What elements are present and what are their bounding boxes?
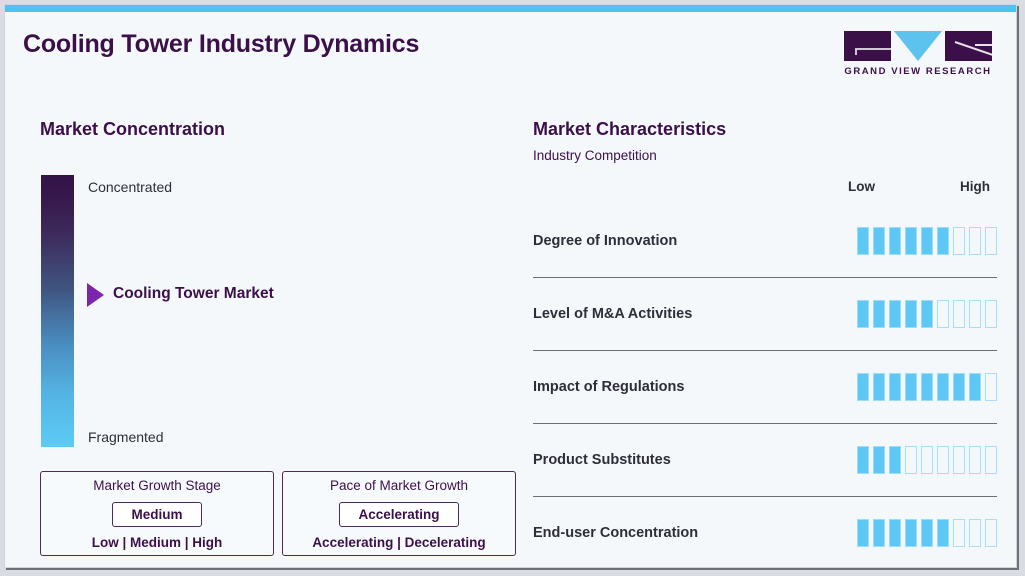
meter-tick-filled: [889, 300, 901, 328]
meter-tick-empty: [985, 373, 997, 401]
meter-tick-empty: [953, 227, 965, 255]
meter-tick-filled: [921, 300, 933, 328]
pace-value: Accelerating: [339, 502, 458, 527]
market-characteristics-subtitle: Industry Competition: [533, 148, 657, 163]
characteristic-meter: [857, 446, 997, 474]
meter-tick-empty: [921, 446, 933, 474]
meter-tick-filled: [873, 300, 885, 328]
pace-of-market-growth-box: Pace of Market Growth Accelerating Accel…: [282, 471, 516, 556]
meter-axis-high-label: High: [960, 179, 990, 194]
brand-logo: GRAND VIEW RESEARCH: [844, 31, 992, 77]
meter-tick-filled: [857, 373, 869, 401]
meter-tick-empty: [953, 519, 965, 547]
meter-tick-filled: [889, 373, 901, 401]
growth-stage-title: Market Growth Stage: [93, 478, 221, 493]
characteristic-meter: [857, 300, 997, 328]
meter-axis-low-label: Low: [848, 179, 875, 194]
meter-tick-filled: [873, 519, 885, 547]
meter-tick-filled: [937, 519, 949, 547]
meter-tick-filled: [857, 446, 869, 474]
meter-tick-filled: [905, 300, 917, 328]
logo-marks: [844, 31, 992, 61]
meter-tick-empty: [937, 446, 949, 474]
accent-top-bar: [5, 5, 1016, 12]
pace-title: Pace of Market Growth: [330, 478, 468, 493]
scale-top-label: Concentrated: [88, 179, 172, 195]
concentration-marker-label: Cooling Tower Market: [113, 285, 274, 303]
characteristics-rows: Degree of InnovationLevel of M&A Activit…: [533, 205, 997, 568]
concentration-gradient-scale: [41, 175, 74, 447]
meter-tick-filled: [921, 227, 933, 255]
market-concentration-title: Market Concentration: [40, 119, 225, 140]
meter-tick-filled: [873, 227, 885, 255]
growth-stage-value: Medium: [112, 502, 201, 527]
characteristic-label: Product Substitutes: [533, 452, 671, 468]
logo-right-rect-icon: [945, 31, 992, 61]
characteristic-row: Product Substitutes: [533, 424, 997, 497]
logo-wordmark: GRAND VIEW RESEARCH: [844, 66, 992, 77]
characteristic-meter: [857, 373, 997, 401]
meter-tick-empty: [985, 300, 997, 328]
characteristic-label: End-user Concentration: [533, 525, 698, 541]
meter-tick-empty: [905, 446, 917, 474]
meter-tick-empty: [985, 519, 997, 547]
meter-tick-filled: [857, 300, 869, 328]
meter-tick-filled: [873, 373, 885, 401]
characteristic-row: Degree of Innovation: [533, 205, 997, 278]
characteristic-label: Degree of Innovation: [533, 233, 677, 249]
meter-tick-filled: [873, 446, 885, 474]
page-title: Cooling Tower Industry Dynamics: [23, 30, 419, 59]
meter-tick-empty: [953, 300, 965, 328]
characteristic-meter: [857, 519, 997, 547]
meter-tick-filled: [889, 227, 901, 255]
meter-tick-filled: [937, 373, 949, 401]
meter-tick-filled: [905, 519, 917, 547]
market-characteristics-title: Market Characteristics: [533, 119, 726, 140]
meter-tick-filled: [905, 373, 917, 401]
characteristic-label: Level of M&A Activities: [533, 306, 692, 322]
characteristic-row: End-user Concentration: [533, 497, 997, 568]
market-growth-stage-box: Market Growth Stage Medium Low | Medium …: [40, 471, 274, 556]
meter-tick-filled: [969, 373, 981, 401]
meter-tick-empty: [969, 300, 981, 328]
meter-tick-empty: [953, 446, 965, 474]
meter-tick-empty: [969, 446, 981, 474]
characteristic-row: Impact of Regulations: [533, 351, 997, 424]
growth-stage-scale: Low | Medium | High: [92, 535, 223, 550]
pace-scale: Accelerating | Decelerating: [312, 535, 485, 550]
characteristic-meter: [857, 227, 997, 255]
logo-triangle-icon: [894, 31, 942, 61]
infographic-card: Cooling Tower Industry Dynamics GRAND VI…: [4, 4, 1017, 568]
meter-tick-filled: [921, 373, 933, 401]
logo-left-rect-icon: [844, 31, 891, 61]
meter-tick-filled: [921, 519, 933, 547]
meter-tick-empty: [937, 300, 949, 328]
meter-tick-empty: [985, 227, 997, 255]
scale-bottom-label: Fragmented: [88, 429, 163, 445]
characteristic-label: Impact of Regulations: [533, 379, 684, 395]
meter-tick-filled: [937, 227, 949, 255]
meter-tick-filled: [889, 519, 901, 547]
meter-tick-filled: [953, 373, 965, 401]
marker-arrow-icon: [87, 283, 104, 307]
meter-tick-filled: [889, 446, 901, 474]
characteristic-row: Level of M&A Activities: [533, 278, 997, 351]
meter-tick-filled: [857, 227, 869, 255]
meter-tick-empty: [985, 446, 997, 474]
meter-tick-empty: [969, 227, 981, 255]
meter-tick-empty: [969, 519, 981, 547]
meter-tick-filled: [857, 519, 869, 547]
meter-tick-filled: [905, 227, 917, 255]
